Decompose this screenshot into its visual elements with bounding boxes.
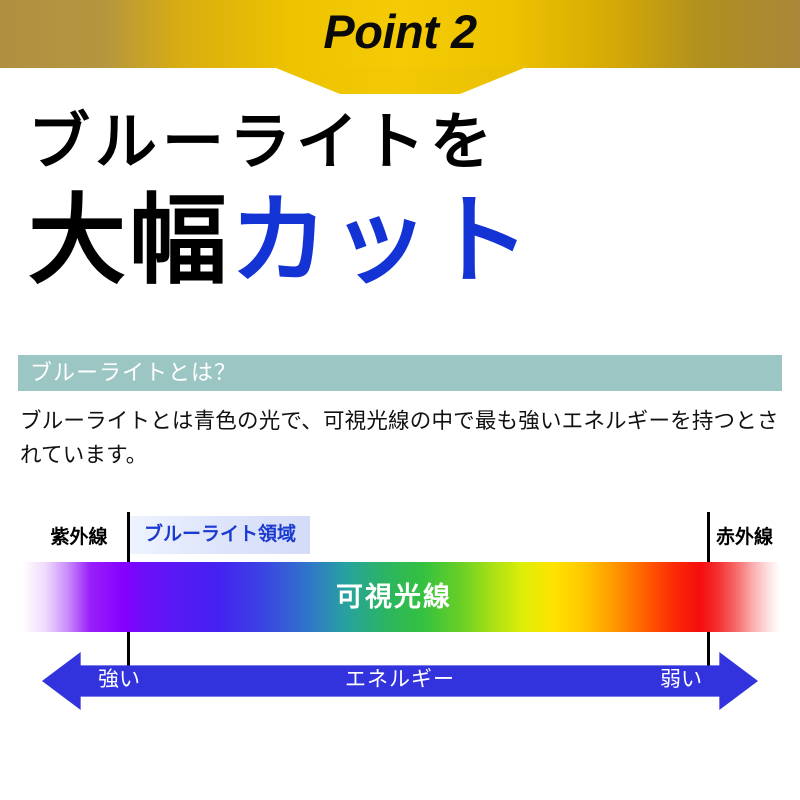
headline-emphasis-black: 大幅: [28, 188, 230, 296]
energy-label-weak: 弱い: [660, 652, 702, 710]
section-body-text: ブルーライトとは青色の光で、可視光線の中で最も強いエネルギーを持つとされています…: [20, 404, 780, 472]
headline-line-2: 大幅カット: [28, 186, 772, 298]
headline-emphasis-blue: カット: [230, 188, 533, 296]
light-spectrum-diagram: 紫外線 ブルーライト領域 赤外線 可視光線 強い エネルギー 弱い: [0, 500, 800, 730]
section-header-label: ブルーライトとは？: [30, 355, 237, 391]
banner-notch-shape: [0, 68, 800, 94]
headline-block: ブルーライトを 大幅カット: [28, 104, 772, 298]
headline-line-1: ブルーライトを: [28, 104, 772, 182]
visible-spectrum-band: [22, 562, 780, 632]
section-header-bar: ブルーライトとは？: [18, 355, 782, 391]
label-infrared: 赤外線: [716, 522, 796, 554]
label-ultraviolet: 紫外線: [36, 522, 122, 554]
banner-title: Point 2: [0, 0, 800, 68]
label-bluelight-region: ブルーライト領域: [130, 516, 310, 554]
